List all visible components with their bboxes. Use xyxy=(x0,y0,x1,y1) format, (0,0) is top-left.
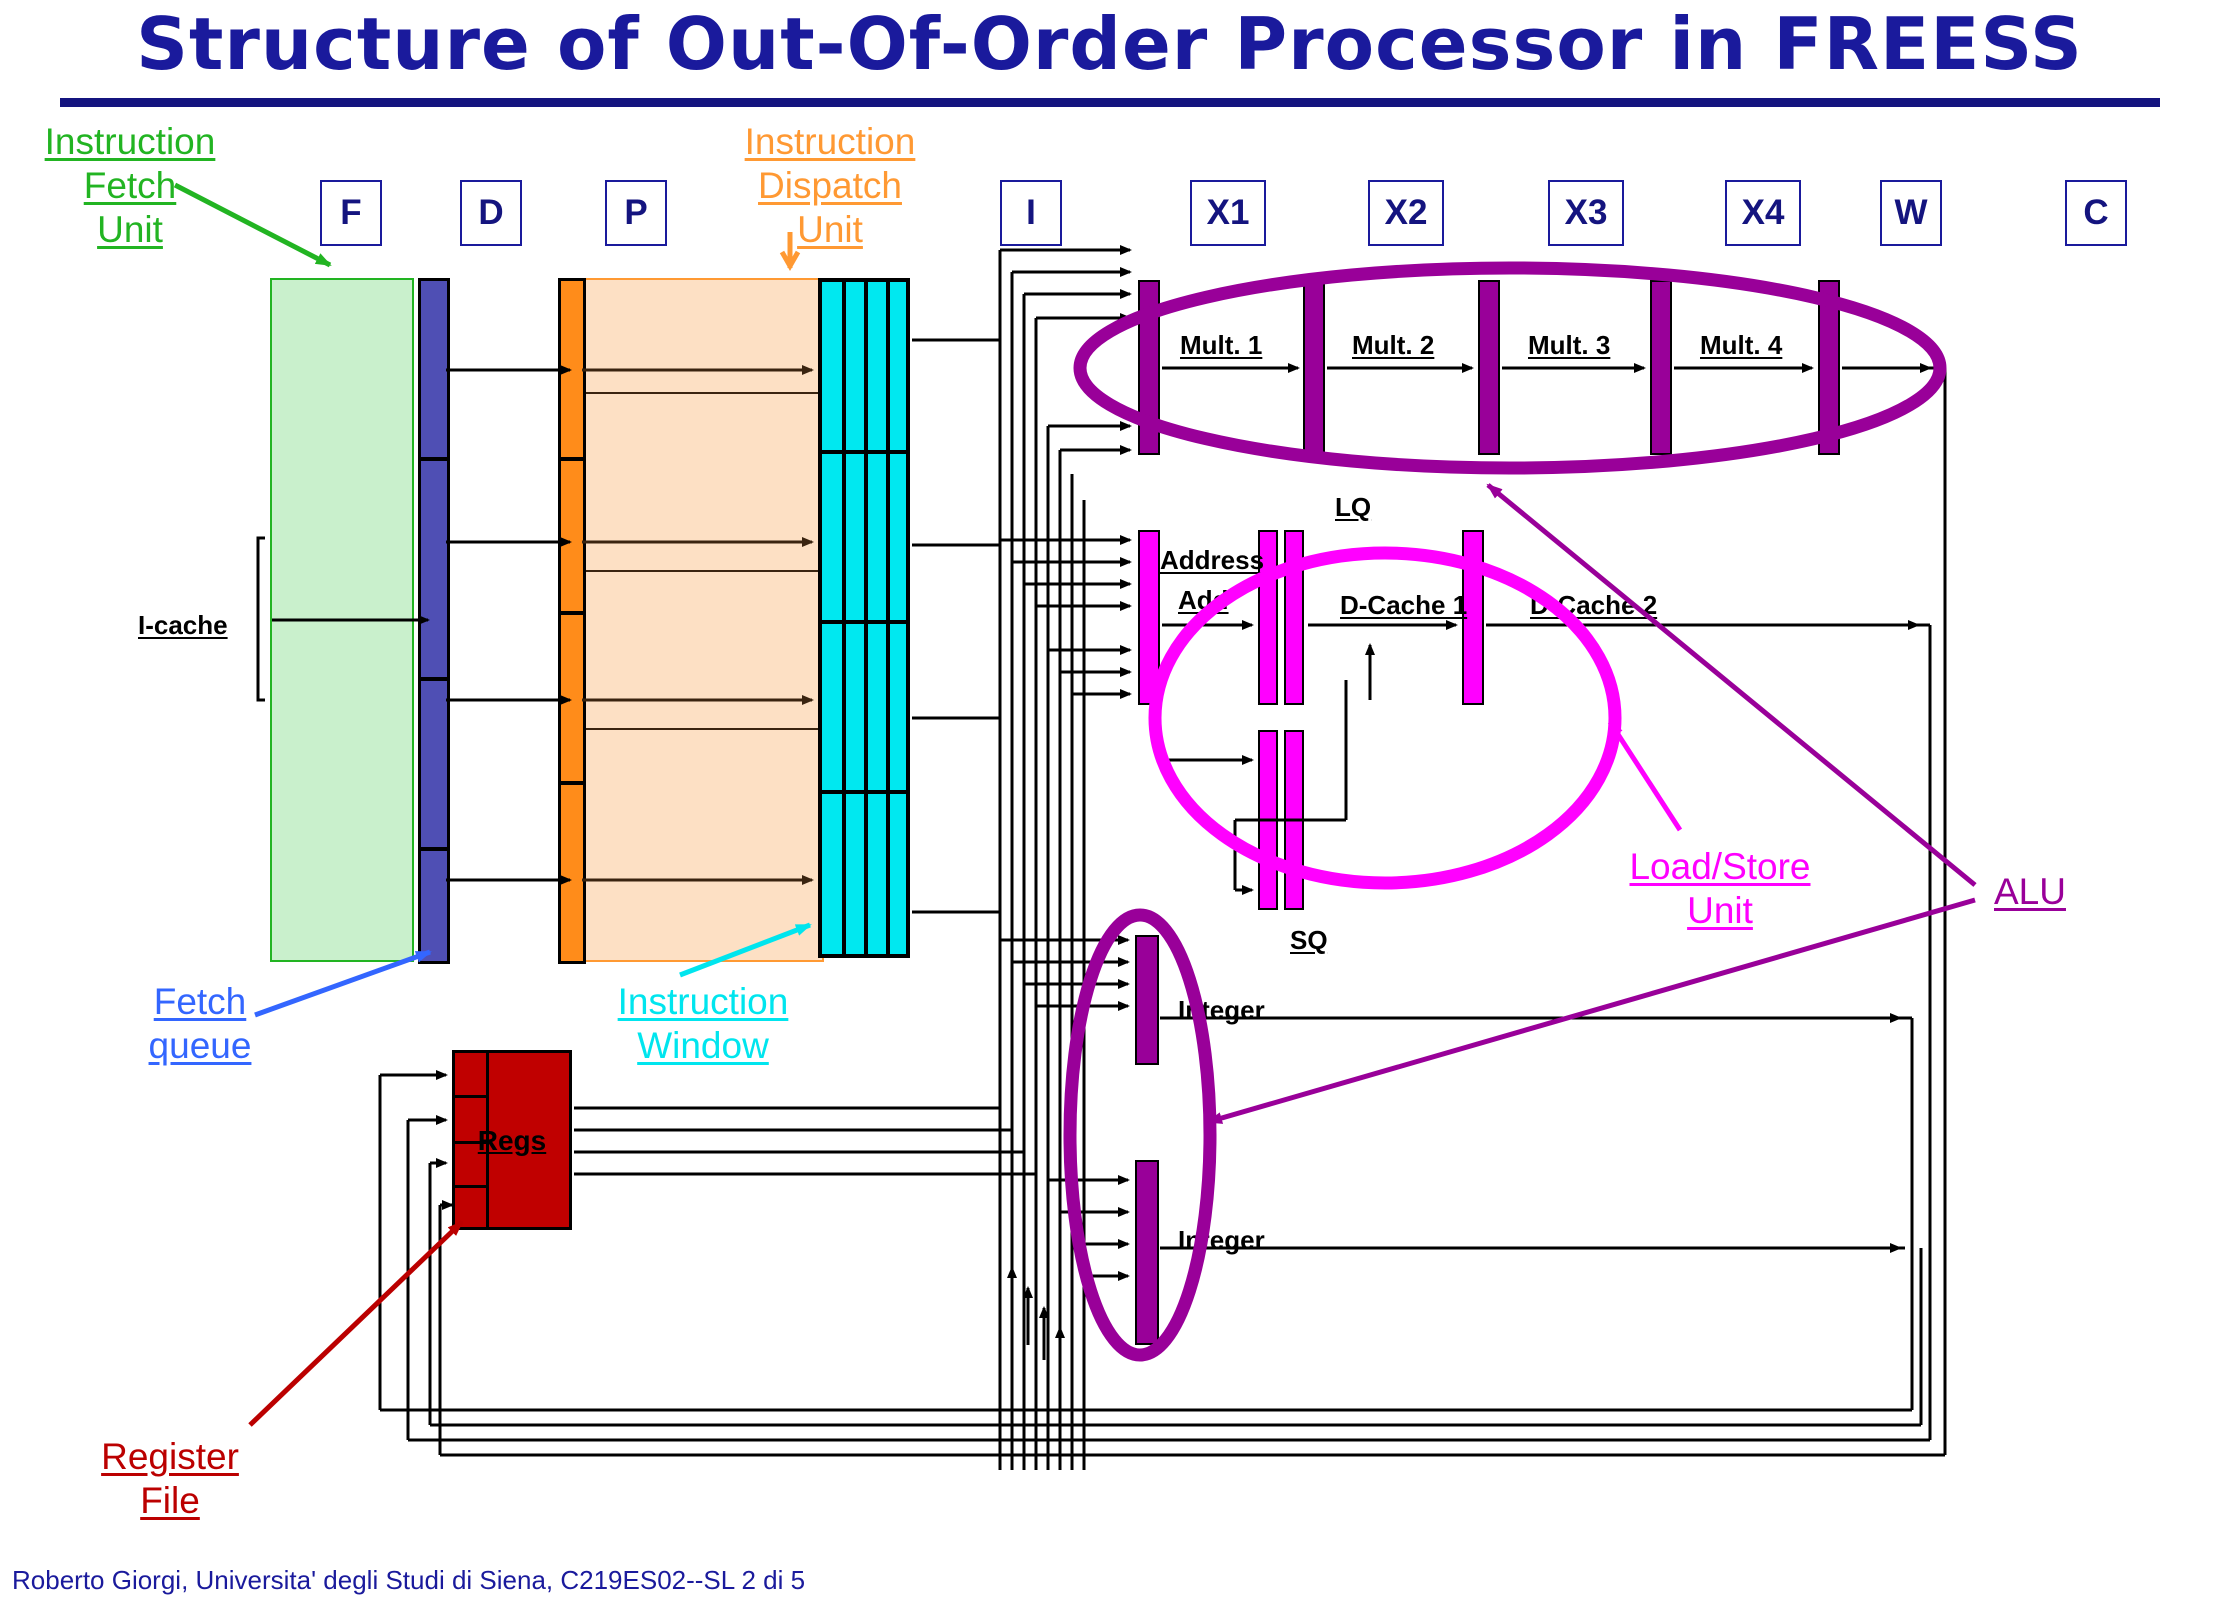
annot-idu-line1: Instruction xyxy=(745,121,916,162)
annot-lsu-line1: Load/Store xyxy=(1629,846,1810,887)
wire-label-dcache-1: D-Cache 1 xyxy=(1340,590,1467,621)
annot-fq-line1: Fetch xyxy=(154,981,247,1022)
stage-box-p: P xyxy=(605,180,667,246)
wire-label-integer-1: Integer xyxy=(1178,995,1265,1026)
sq-label: SQ xyxy=(1290,925,1328,956)
mult-latch-x4-w xyxy=(1818,280,1840,455)
page-title: Structure of Out-Of-Order Processor in F… xyxy=(0,2,2219,86)
callout-arrow-register-file xyxy=(250,1222,462,1425)
mult-latch-x1-x2 xyxy=(1303,280,1325,455)
annot-rf-line1: Register xyxy=(101,1436,239,1477)
wire-label-mult-2: Mult. 2 xyxy=(1352,330,1434,361)
regs-text: Regs xyxy=(478,1125,546,1156)
annotation-load-store-unit: Load/Store Unit xyxy=(1600,845,1840,933)
stage-box-f: F xyxy=(320,180,382,246)
wire-label-integer-2: Integer xyxy=(1178,1225,1265,1256)
annot-alu-line1: ALU xyxy=(1994,871,2066,912)
stage-box-w: W xyxy=(1880,180,1942,246)
mult-latch-x1-in xyxy=(1138,280,1160,455)
mem-latch-addr-in xyxy=(1138,530,1160,705)
regs-label: Regs xyxy=(452,1125,572,1157)
integer-unit-1-bar xyxy=(1135,935,1159,1065)
annotation-instruction-dispatch-unit: Instruction Dispatch Unit xyxy=(720,120,940,252)
instruction-dispatch-unit-block xyxy=(580,278,824,962)
footer-text: Roberto Giorgi, Universita' degli Studi … xyxy=(12,1565,805,1596)
annot-iw-line2: Window xyxy=(637,1025,769,1066)
mem-latch-lq-b xyxy=(1284,530,1304,705)
wire-label-dcache-2: D-Cache 2 xyxy=(1530,590,1657,621)
stage-box-d: D xyxy=(460,180,522,246)
annot-fq-line2: queue xyxy=(149,1025,252,1066)
annot-ifu-line2: Fetch xyxy=(84,165,177,206)
annot-idu-line3: Unit xyxy=(797,209,863,250)
callout-arrow-alu-mult xyxy=(1488,485,1975,885)
wire-label-address: Address xyxy=(1160,545,1264,576)
callout-arrow-load-store-unit xyxy=(1610,722,1680,830)
stage-box-c: C xyxy=(2065,180,2127,246)
dispatch-latch-bar xyxy=(558,278,586,964)
annot-rf-line2: File xyxy=(140,1480,200,1521)
annotation-fetch-queue: Fetch queue xyxy=(100,980,300,1068)
lq-label: LQ xyxy=(1335,492,1371,523)
wire-label-mult-1: Mult. 1 xyxy=(1180,330,1262,361)
annot-ifu-line1: Instruction xyxy=(45,121,216,162)
stage-box-x4: X4 xyxy=(1725,180,1801,246)
annotation-alu: ALU xyxy=(1960,870,2100,914)
sq-bar-a xyxy=(1258,730,1278,910)
icache-label: I-cache xyxy=(138,610,228,641)
fetch-queue-block xyxy=(418,278,450,964)
wire-label-mult-4: Mult. 4 xyxy=(1700,330,1782,361)
wire-label-add: Add xyxy=(1178,585,1229,616)
annotation-register-file: Register File xyxy=(60,1435,280,1523)
integer-unit-2-bar xyxy=(1135,1160,1159,1345)
mult-latch-x3-x4 xyxy=(1650,280,1672,455)
instruction-fetch-unit-block xyxy=(270,278,414,962)
stage-box-x3: X3 xyxy=(1548,180,1624,246)
annot-idu-line2: Dispatch xyxy=(758,165,902,206)
stage-box-x2: X2 xyxy=(1368,180,1444,246)
instruction-window-block xyxy=(818,278,910,958)
wire-label-mult-3: Mult. 3 xyxy=(1528,330,1610,361)
sq-bar-b xyxy=(1284,730,1304,910)
title-underline-rule xyxy=(60,98,2160,107)
annotation-instruction-window: Instruction Window xyxy=(578,980,828,1068)
mult-latch-x2-x3 xyxy=(1478,280,1500,455)
highlight-ellipse-mult-alu xyxy=(1080,268,1940,468)
annot-iw-line1: Instruction xyxy=(618,981,789,1022)
stage-box-x1: X1 xyxy=(1190,180,1266,246)
annotation-instruction-fetch-unit: Instruction Fetch Unit xyxy=(20,120,240,252)
annot-lsu-line2: Unit xyxy=(1687,890,1753,931)
stage-box-i: I xyxy=(1000,180,1062,246)
annot-ifu-line3: Unit xyxy=(97,209,163,250)
